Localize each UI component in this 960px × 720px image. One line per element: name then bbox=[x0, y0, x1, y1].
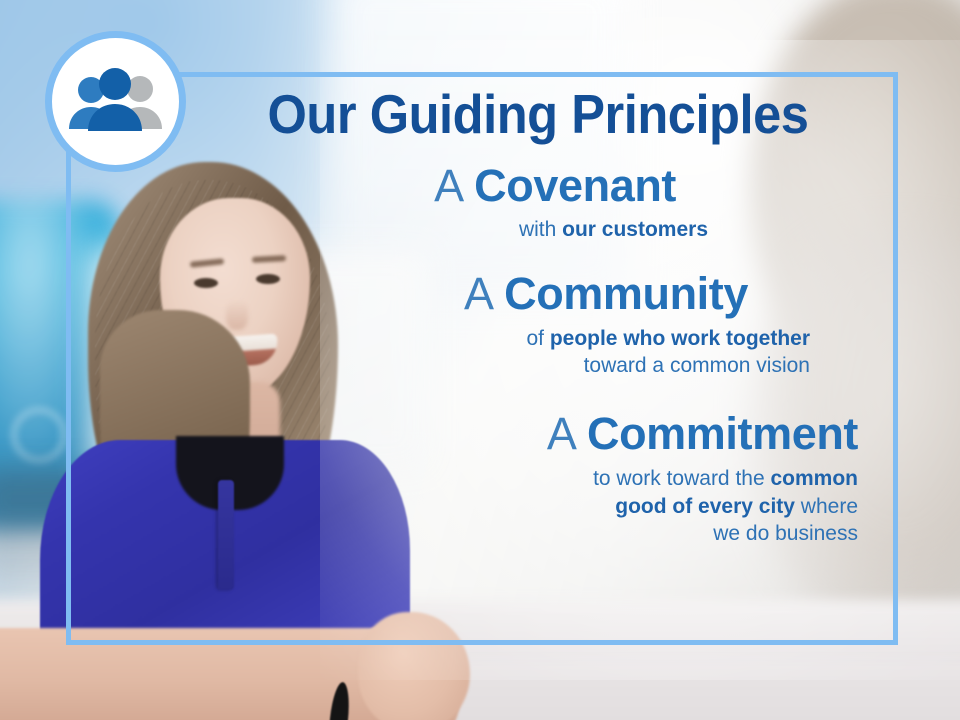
subtext-run-bold: our customers bbox=[562, 218, 708, 241]
principle-covenant-subtext: with our customers bbox=[200, 216, 708, 244]
people-badge bbox=[45, 31, 186, 172]
principle-community-article: A bbox=[464, 268, 492, 319]
principle-covenant-word: Covenant bbox=[474, 160, 676, 211]
guiding-principles-graphic: FLOW FLOW AUTOMOTIVE Our Guiding Princip… bbox=[0, 0, 960, 720]
principle-community: A Community of people who work together … bbox=[200, 270, 876, 380]
subtext-run-bold: people who work together bbox=[550, 327, 810, 350]
principle-commitment-subtext: to work toward the common good of every … bbox=[200, 465, 858, 549]
principle-covenant-subline-1: with our customers bbox=[200, 216, 708, 244]
person-hands bbox=[358, 612, 470, 720]
principle-commitment-subline-1: to work toward the common bbox=[200, 465, 858, 493]
subtext-run: with bbox=[519, 218, 562, 241]
subtext-run: to work toward the bbox=[593, 467, 770, 490]
subtext-run-bold: common bbox=[770, 467, 858, 490]
subtext-run: toward a common vision bbox=[584, 354, 810, 377]
people-group-icon bbox=[64, 67, 168, 137]
principle-commitment-subline-3: we do business bbox=[200, 520, 858, 548]
principle-community-subtext: of people who work together toward a com… bbox=[200, 325, 810, 381]
subtext-run: of bbox=[526, 327, 549, 350]
principle-commitment-title: A Commitment bbox=[200, 410, 858, 457]
principle-community-subline-2: toward a common vision bbox=[200, 352, 810, 380]
principle-commitment-word: Commitment bbox=[587, 408, 858, 459]
principle-commitment-article: A bbox=[547, 408, 575, 459]
principle-community-title: A Community bbox=[200, 270, 748, 317]
principle-commitment: A Commitment to work toward the common g… bbox=[200, 410, 876, 548]
principle-community-word: Community bbox=[504, 268, 748, 319]
principle-covenant-title: A Covenant bbox=[200, 162, 676, 209]
principle-commitment-subline-2: good of every city where bbox=[200, 493, 858, 521]
principle-community-subline-1: of people who work together bbox=[200, 325, 810, 353]
subtext-run: where bbox=[795, 495, 858, 518]
text-content: Our Guiding Principles A Covenant with o… bbox=[200, 86, 876, 548]
subtext-run: we do business bbox=[713, 522, 858, 545]
page-title: Our Guiding Principles bbox=[227, 86, 849, 142]
principle-covenant: A Covenant with our customers bbox=[200, 162, 876, 244]
subtext-run-bold: good of every city bbox=[615, 495, 795, 518]
principle-covenant-article: A bbox=[434, 160, 462, 211]
